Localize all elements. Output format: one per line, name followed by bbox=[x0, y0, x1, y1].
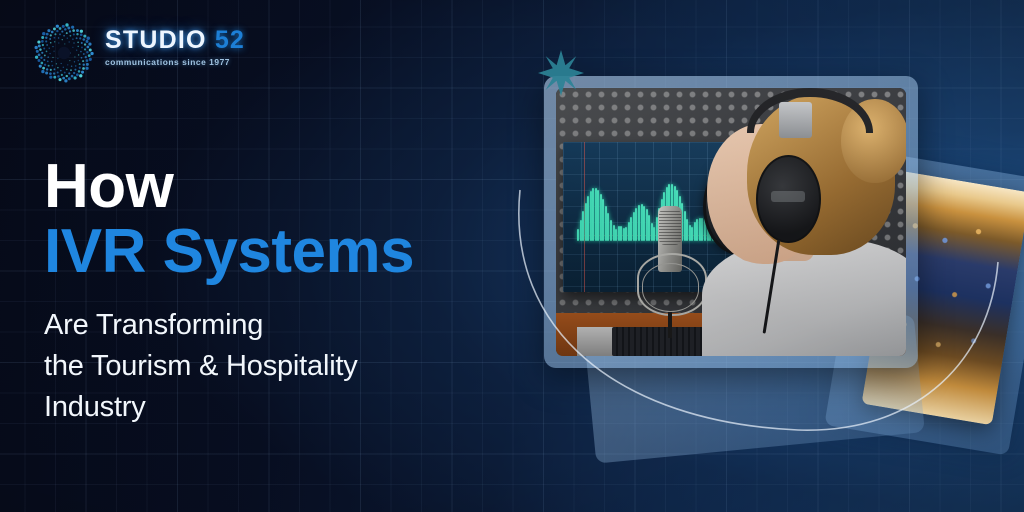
promotional-banner: STUDIO 52 communications since 1977 How … bbox=[0, 0, 1024, 512]
studio52-radial-dot-logo-icon bbox=[33, 22, 95, 84]
headline-line-1: How bbox=[44, 155, 514, 219]
artwork-group bbox=[498, 30, 1024, 482]
brand-name: STUDIO 52 bbox=[105, 28, 265, 53]
brand-tagline: communications since 1977 bbox=[105, 57, 265, 67]
brand-wordmark: STUDIO 52 communications since 1977 bbox=[105, 28, 265, 78]
headline-line-2: IVR Systems bbox=[44, 217, 514, 286]
subheadline-line-1: Are Transforming bbox=[44, 305, 514, 346]
page-title: How IVR Systems bbox=[44, 155, 514, 286]
subheadline-line-2: the Tourism & Hospitality bbox=[44, 346, 514, 387]
page-subtitle: Are Transforming the Tourism & Hospitali… bbox=[44, 305, 514, 429]
brand-name-primary: STUDIO bbox=[105, 26, 207, 54]
subheadline-line-3: Industry bbox=[44, 387, 514, 428]
brand-logo[interactable]: STUDIO 52 communications since 1977 bbox=[33, 22, 263, 84]
curved-swoosh-line-icon bbox=[498, 30, 1024, 482]
brand-name-accent: 52 bbox=[215, 26, 245, 54]
